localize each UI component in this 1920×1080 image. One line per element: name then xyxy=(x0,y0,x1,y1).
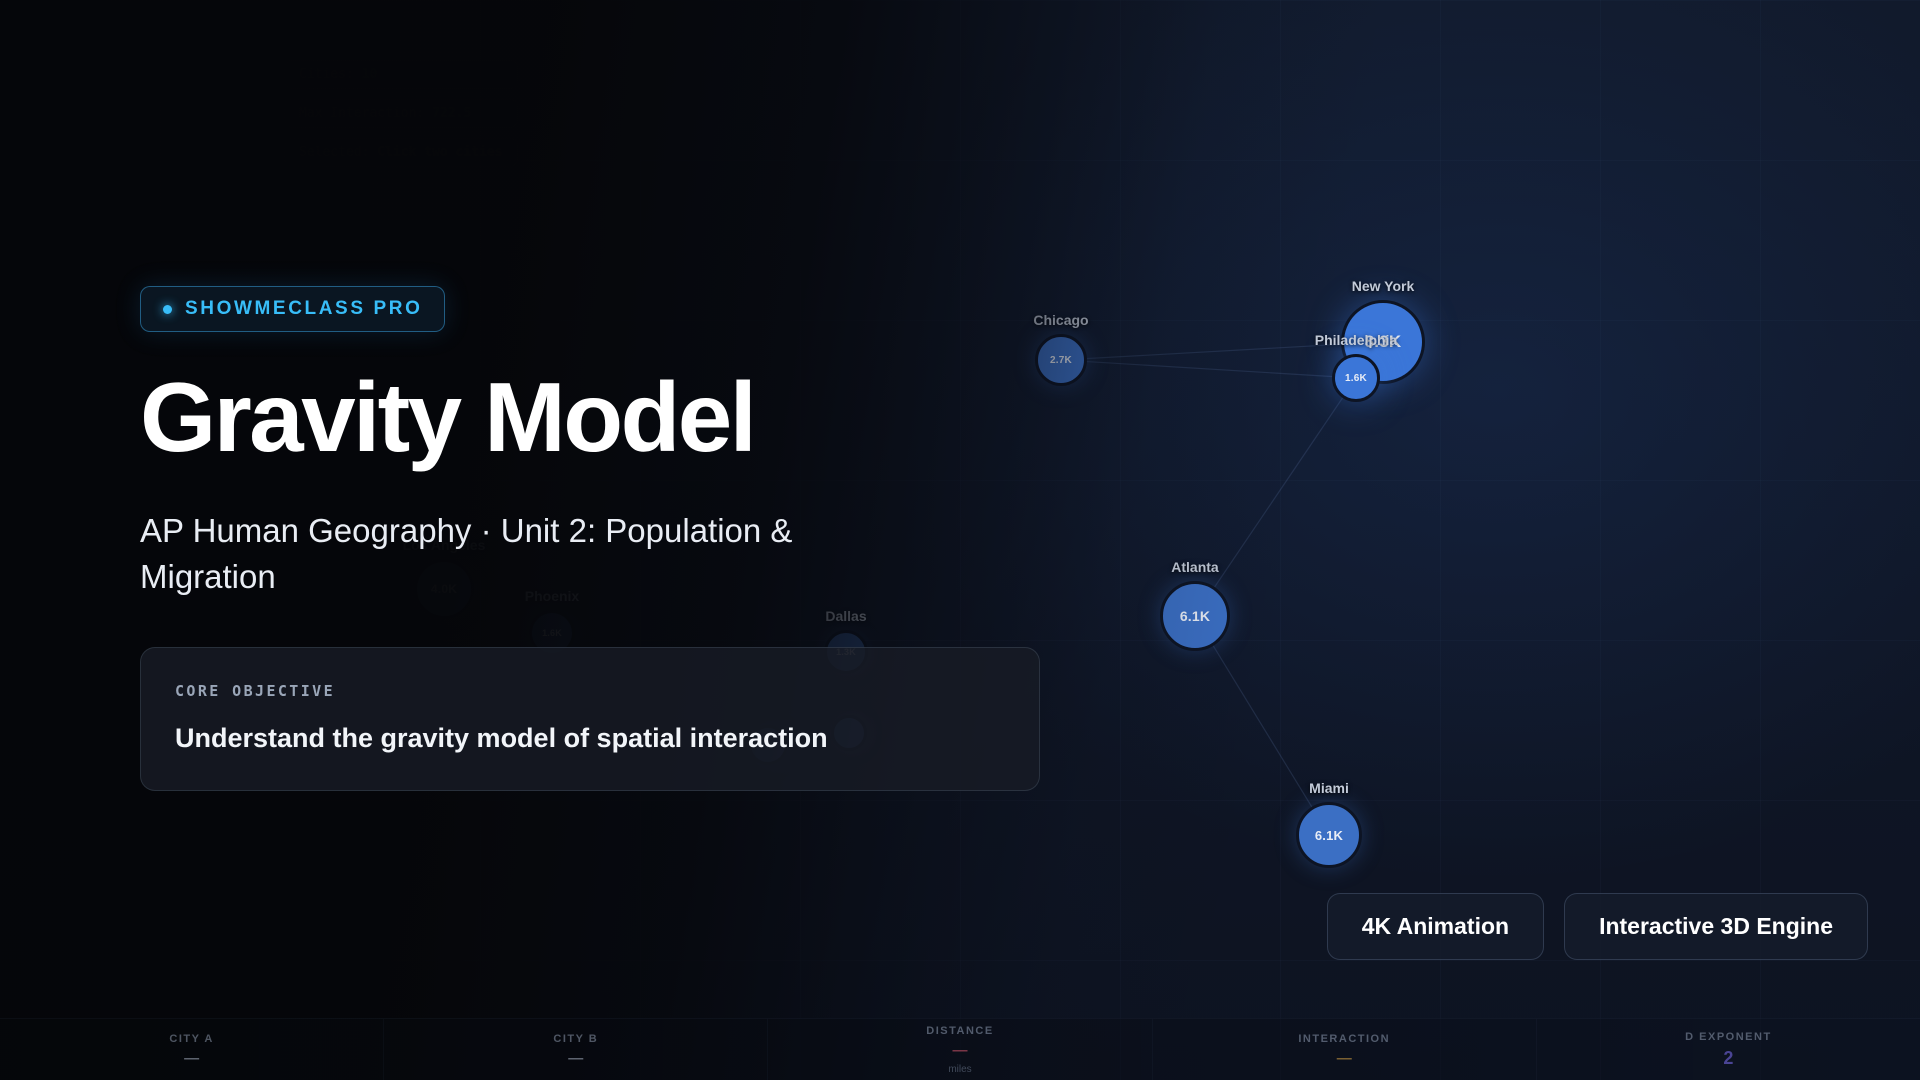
stat-city-b: CITY B— xyxy=(384,1019,768,1080)
presentation-slide: 8.3KNew York1.6KPhiladelphia2.7KChicago6… xyxy=(0,0,1920,1080)
core-objective-card: CORE OBJECTIVE Understand the gravity mo… xyxy=(140,647,1040,791)
stat-distance: DISTANCE—miles xyxy=(768,1019,1152,1080)
stats-bar: CITY A—CITY B—DISTANCE—milesINTERACTION—… xyxy=(0,1018,1920,1080)
hero-content: SHOWMECLASS PRO Gravity Model AP Human G… xyxy=(140,286,1060,791)
stat-label: INTERACTION xyxy=(1298,1033,1390,1045)
stat-value: — xyxy=(1337,1050,1352,1067)
core-objective-text: Understand the gravity model of spatial … xyxy=(175,723,1005,754)
feature-pill-group: 4K Animation Interactive 3D Engine xyxy=(1327,893,1868,960)
page-subtitle: AP Human Geography · Unit 2: Population … xyxy=(140,508,920,599)
core-objective-label: CORE OBJECTIVE xyxy=(175,682,1005,700)
stat-label: CITY B xyxy=(553,1033,598,1045)
feature-pill-interactive-3d-engine[interactable]: Interactive 3D Engine xyxy=(1564,893,1868,960)
stat-value: — xyxy=(953,1042,968,1059)
stat-value: 2 xyxy=(1723,1048,1733,1069)
stat-label: D EXPONENT xyxy=(1685,1031,1772,1043)
brand-badge: SHOWMECLASS PRO xyxy=(140,286,445,332)
stat-interaction: INTERACTION— xyxy=(1153,1019,1537,1080)
page-title: Gravity Model xyxy=(140,368,1060,466)
status-dot-icon xyxy=(163,305,172,314)
feature-pill-4k-animation[interactable]: 4K Animation xyxy=(1327,893,1544,960)
brand-badge-label: SHOWMECLASS PRO xyxy=(185,298,422,320)
stat-d-exponent: D EXPONENT2 xyxy=(1537,1019,1920,1080)
stat-label: DISTANCE xyxy=(926,1025,993,1037)
stat-value: — xyxy=(184,1050,199,1067)
stat-unit: miles xyxy=(948,1064,971,1075)
stat-city-a: CITY A— xyxy=(0,1019,384,1080)
stat-label: CITY A xyxy=(169,1033,213,1045)
stat-value: — xyxy=(568,1050,583,1067)
